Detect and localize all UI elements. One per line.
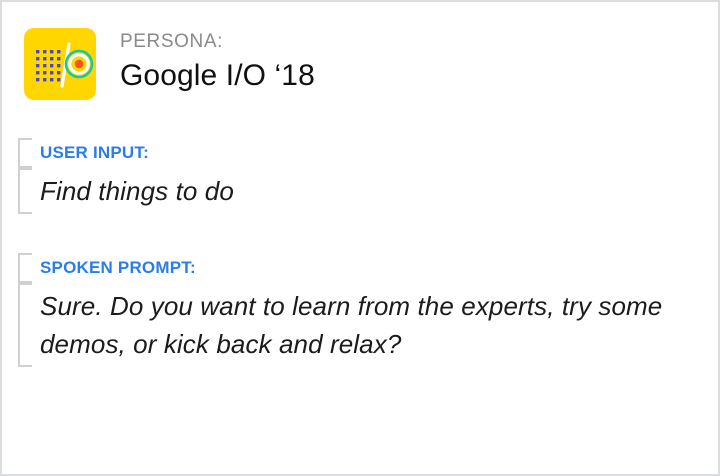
persona-name: Google I/O ‘18 [120, 56, 315, 96]
user-input-label-bracket: USER INPUT: [18, 138, 234, 168]
user-input-label: USER INPUT: [40, 143, 149, 162]
field-user-input: USER INPUT: Find things to do [18, 138, 234, 214]
bracket-tick-icon [18, 212, 32, 214]
persona-label: PERSONA: [120, 30, 315, 54]
user-input-value: Find things to do [40, 172, 234, 210]
spoken-prompt-value-bracket: Sure. Do you want to learn from the expe… [18, 283, 680, 367]
persona-card: PERSONA: Google I/O ‘18 USER INPUT: Find… [0, 0, 720, 476]
spoken-prompt-value: Sure. Do you want to learn from the expe… [40, 287, 680, 363]
google-io-logo-icon [24, 28, 96, 100]
user-input-value-bracket: Find things to do [18, 168, 234, 214]
persona-text: PERSONA: Google I/O ‘18 [120, 28, 315, 96]
spoken-prompt-label: SPOKEN PROMPT: [40, 258, 196, 277]
persona-header: PERSONA: Google I/O ‘18 [24, 28, 315, 100]
field-spoken-prompt: SPOKEN PROMPT: Sure. Do you want to lear… [18, 253, 680, 367]
spoken-prompt-label-bracket: SPOKEN PROMPT: [18, 253, 680, 283]
bracket-tick-icon [18, 365, 32, 367]
